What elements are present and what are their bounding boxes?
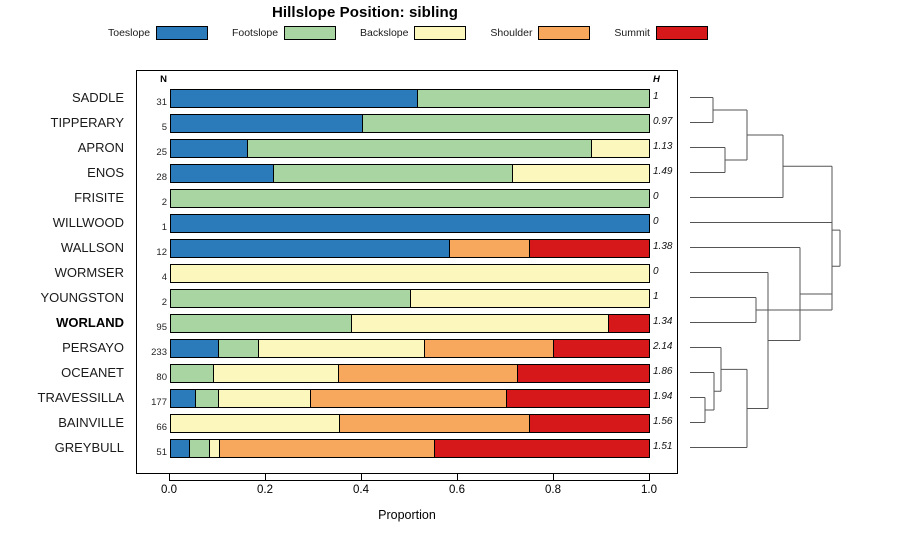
legend-label: Shoulder — [490, 27, 532, 39]
stacked-bar[interactable] — [170, 264, 650, 283]
h-value: 1.34 — [653, 317, 693, 327]
bar-segment-footslope[interactable] — [274, 165, 513, 182]
x-axis-line — [169, 480, 650, 481]
bar-row: 50.97 — [137, 111, 677, 136]
h-value: 1.86 — [653, 367, 693, 377]
h-value: 1.51 — [653, 442, 693, 452]
h-value: 1.56 — [653, 417, 693, 427]
h-value: 0 — [653, 192, 693, 202]
legend-item-backslope: Backslope — [360, 26, 466, 40]
y-axis-label-willwood: WILLWOOD — [53, 210, 124, 235]
bar-segment-toeslope[interactable] — [171, 90, 418, 107]
bar-segment-footslope[interactable] — [171, 365, 214, 382]
bar-segment-summit[interactable] — [554, 340, 649, 357]
x-axis-tick — [169, 474, 170, 481]
bar-segment-shoulder[interactable] — [425, 340, 554, 357]
bar-segment-footslope[interactable] — [248, 140, 592, 157]
x-axis-tick — [457, 474, 458, 481]
stacked-bar[interactable] — [170, 364, 650, 383]
h-value: 1 — [653, 292, 693, 302]
bar-segment-backslope[interactable] — [411, 290, 650, 307]
y-axis-label-apron: APRON — [78, 135, 124, 160]
n-value: 51 — [137, 448, 167, 458]
stacked-bar[interactable] — [170, 339, 650, 358]
bar-segment-toeslope[interactable] — [171, 390, 196, 407]
n-value: 25 — [137, 148, 167, 158]
n-value: 233 — [137, 348, 167, 358]
bar-segment-footslope[interactable] — [196, 390, 218, 407]
n-value: 2 — [137, 198, 167, 208]
bar-row: 661.56 — [137, 411, 677, 436]
bar-segment-toeslope[interactable] — [171, 165, 274, 182]
stacked-bar[interactable] — [170, 314, 650, 333]
legend-item-shoulder: Shoulder — [490, 26, 590, 40]
x-axis-tick — [361, 474, 362, 481]
legend-label: Footslope — [232, 27, 278, 39]
h-value: 0.97 — [653, 117, 693, 127]
bar-segment-shoulder[interactable] — [340, 415, 530, 432]
bar-segment-backslope[interactable] — [592, 140, 649, 157]
x-axis-tick-label: 0.0 — [161, 484, 177, 496]
bar-segment-shoulder[interactable] — [220, 440, 435, 457]
bar-segment-summit[interactable] — [435, 440, 649, 457]
h-value: 1.13 — [653, 142, 693, 152]
bar-segment-shoulder[interactable] — [450, 240, 530, 257]
dendrogram-svg — [690, 70, 900, 474]
y-axis-label-bainville: BAINVILLE — [58, 410, 124, 435]
bar-segment-toeslope[interactable] — [171, 440, 190, 457]
bar-segment-toeslope[interactable] — [171, 340, 219, 357]
bar-row: 1771.94 — [137, 386, 677, 411]
legend-swatch-icon — [156, 26, 208, 40]
bar-segment-backslope[interactable] — [219, 390, 311, 407]
legend-swatch-icon — [538, 26, 590, 40]
bar-row: 281.49 — [137, 161, 677, 186]
h-value: 1.49 — [653, 167, 693, 177]
bar-row: 311 — [137, 86, 677, 111]
bar-row: 10 — [137, 211, 677, 236]
stacked-bar[interactable] — [170, 189, 650, 208]
x-axis-tick-label: 0.8 — [545, 484, 561, 496]
y-axis-label-enos: ENOS — [87, 160, 124, 185]
bar-row: 801.86 — [137, 361, 677, 386]
x-axis-tick — [553, 474, 554, 481]
stacked-bar[interactable] — [170, 414, 650, 433]
x-axis-tick-label: 0.6 — [449, 484, 465, 496]
bar-segment-footslope[interactable] — [190, 440, 209, 457]
n-value: 12 — [137, 248, 167, 258]
bar-segment-footslope[interactable] — [418, 90, 649, 107]
y-axis-label-wormser: WORMSER — [55, 260, 124, 285]
h-value: 1 — [653, 92, 693, 102]
h-value: 2.14 — [653, 342, 693, 352]
n-value: 95 — [137, 323, 167, 333]
bar-segment-backslope[interactable] — [513, 165, 649, 182]
chart-title: Hillslope Position: sibling — [0, 4, 730, 21]
bar-row: 20 — [137, 186, 677, 211]
n-value: 2 — [137, 298, 167, 308]
bar-row: 40 — [137, 261, 677, 286]
legend: ToeslopeFootslopeBackslopeShoulderSummit — [108, 24, 708, 42]
bar-segment-shoulder[interactable] — [311, 390, 507, 407]
bar-segment-footslope[interactable] — [363, 115, 649, 132]
n-value: 80 — [137, 373, 167, 383]
h-value: 0 — [653, 267, 693, 277]
bar-segment-toeslope[interactable] — [171, 140, 248, 157]
h-value: 1.38 — [653, 242, 693, 252]
bar-segment-footslope[interactable] — [219, 340, 259, 357]
n-value: 28 — [137, 173, 167, 183]
stacked-bar[interactable] — [170, 439, 650, 458]
stacked-bar[interactable] — [170, 114, 650, 133]
stacked-bar[interactable] — [170, 289, 650, 308]
bar-segment-backslope[interactable] — [352, 315, 609, 332]
y-axis-label-travessilla: TRAVESSILLA — [38, 385, 124, 410]
bar-segment-footslope[interactable] — [171, 190, 649, 207]
y-axis-labels: SADDLETIPPERARYAPRONENOSFRISITEWILLWOODW… — [0, 70, 132, 474]
x-axis-tick-label: 0.4 — [353, 484, 369, 496]
bar-segment-footslope[interactable] — [171, 315, 352, 332]
legend-swatch-icon — [414, 26, 466, 40]
bar-segment-toeslope[interactable] — [171, 240, 450, 257]
n-value: 31 — [137, 98, 167, 108]
chart-root: Hillslope Position: sibling ToeslopeFoot… — [0, 0, 900, 540]
n-value: 177 — [137, 398, 167, 408]
bar-row: 21 — [137, 286, 677, 311]
legend-item-footslope: Footslope — [232, 26, 336, 40]
y-axis-label-frisite: FRISITE — [74, 185, 124, 210]
stacked-bar[interactable] — [170, 214, 650, 233]
bar-segment-summit[interactable] — [609, 315, 649, 332]
bar-segment-summit[interactable] — [530, 415, 649, 432]
bar-segment-summit[interactable] — [507, 390, 649, 407]
stacked-bar[interactable] — [170, 89, 650, 108]
stacked-bar[interactable] — [170, 389, 650, 408]
bar-segment-backslope[interactable] — [171, 415, 340, 432]
x-axis-tick-label: 0.2 — [257, 484, 273, 496]
h-value: 0 — [653, 217, 693, 227]
x-axis-tick-label: 1.0 — [641, 484, 657, 496]
y-axis-label-youngston: YOUNGSTON — [40, 285, 124, 310]
n-value: 66 — [137, 423, 167, 433]
legend-label: Summit — [614, 27, 650, 39]
h-value: 1.94 — [653, 392, 693, 402]
legend-swatch-icon — [656, 26, 708, 40]
y-axis-label-worland: WORLAND — [56, 310, 124, 335]
bar-segment-summit[interactable] — [518, 365, 649, 382]
y-axis-label-tipperary: TIPPERARY — [51, 110, 124, 135]
y-axis-label-oceanet: OCEANET — [61, 360, 124, 385]
bar-segment-footslope[interactable] — [171, 290, 411, 307]
y-axis-label-persayo: PERSAYO — [62, 335, 124, 360]
stacked-bar[interactable] — [170, 139, 650, 158]
bar-segment-shoulder[interactable] — [339, 365, 518, 382]
x-axis-title: Proportion — [136, 508, 678, 522]
legend-label: Toeslope — [108, 27, 150, 39]
bar-row: 251.13 — [137, 136, 677, 161]
dendrogram — [690, 70, 900, 474]
plot-area: N H 31150.97251.13281.492010121.38402195… — [136, 70, 678, 474]
y-axis-label-wallson: WALLSON — [61, 235, 124, 260]
legend-swatch-icon — [284, 26, 336, 40]
n-value: 1 — [137, 223, 167, 233]
bar-segment-backslope[interactable] — [171, 265, 649, 282]
stacked-bar[interactable] — [170, 239, 650, 258]
bar-segment-summit[interactable] — [530, 240, 649, 257]
y-axis-label-saddle: SADDLE — [72, 85, 124, 110]
legend-item-summit: Summit — [614, 26, 708, 40]
n-value: 4 — [137, 273, 167, 283]
bar-row: 121.38 — [137, 236, 677, 261]
x-axis-tick — [649, 474, 650, 481]
bar-row: 2332.14 — [137, 336, 677, 361]
legend-item-toeslope: Toeslope — [108, 26, 208, 40]
y-axis-label-greybull: GREYBULL — [55, 435, 124, 460]
bar-rows: 31150.97251.13281.492010121.384021951.34… — [137, 71, 677, 473]
bar-row: 951.34 — [137, 311, 677, 336]
n-value: 5 — [137, 123, 167, 133]
x-axis-tick — [265, 474, 266, 481]
stacked-bar[interactable] — [170, 164, 650, 183]
bar-segment-backslope[interactable] — [259, 340, 424, 357]
bar-segment-toeslope[interactable] — [171, 115, 363, 132]
bar-segment-toeslope[interactable] — [171, 215, 649, 232]
legend-label: Backslope — [360, 27, 408, 39]
bar-segment-backslope[interactable] — [214, 365, 339, 382]
bar-row: 511.51 — [137, 436, 677, 461]
bar-segment-backslope[interactable] — [210, 440, 220, 457]
